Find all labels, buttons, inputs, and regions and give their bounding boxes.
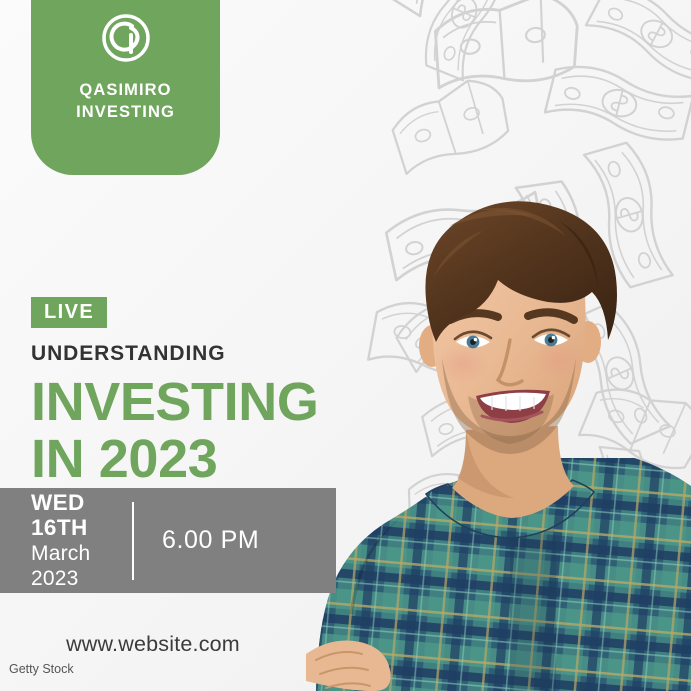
event-info-bar: WED 16TH March 2023 6.00 PM xyxy=(0,488,336,593)
headline-block: LIVE UNDERSTANDING INVESTING IN 2023 xyxy=(31,297,318,486)
live-badge: LIVE xyxy=(31,297,107,328)
brand-name: QASIMIRO INVESTING xyxy=(76,79,175,123)
stock-watermark: Getty Stock xyxy=(9,662,74,676)
event-date-month: March 2023 xyxy=(31,541,132,591)
brand-name-line-1: QASIMIRO xyxy=(76,79,175,101)
brand-name-line-2: INVESTING xyxy=(76,101,175,123)
headline-title-line-1: INVESTING xyxy=(31,372,318,432)
brand-logo-card: QASIMIRO INVESTING xyxy=(31,0,220,175)
website-url[interactable]: www.website.com xyxy=(0,632,306,657)
promo-poster: QASIMIRO INVESTING xyxy=(0,0,691,691)
headline-title: INVESTING IN 2023 xyxy=(31,377,318,486)
event-date-day: WED 16TH xyxy=(31,490,132,540)
headline-subtitle: UNDERSTANDING xyxy=(31,343,318,364)
headline-title-line-2: IN 2023 xyxy=(31,434,318,485)
person-photo xyxy=(282,168,691,691)
event-date: WED 16TH March 2023 xyxy=(0,490,132,591)
circular-q-icon xyxy=(101,13,151,63)
event-time: 6.00 PM xyxy=(134,526,259,555)
